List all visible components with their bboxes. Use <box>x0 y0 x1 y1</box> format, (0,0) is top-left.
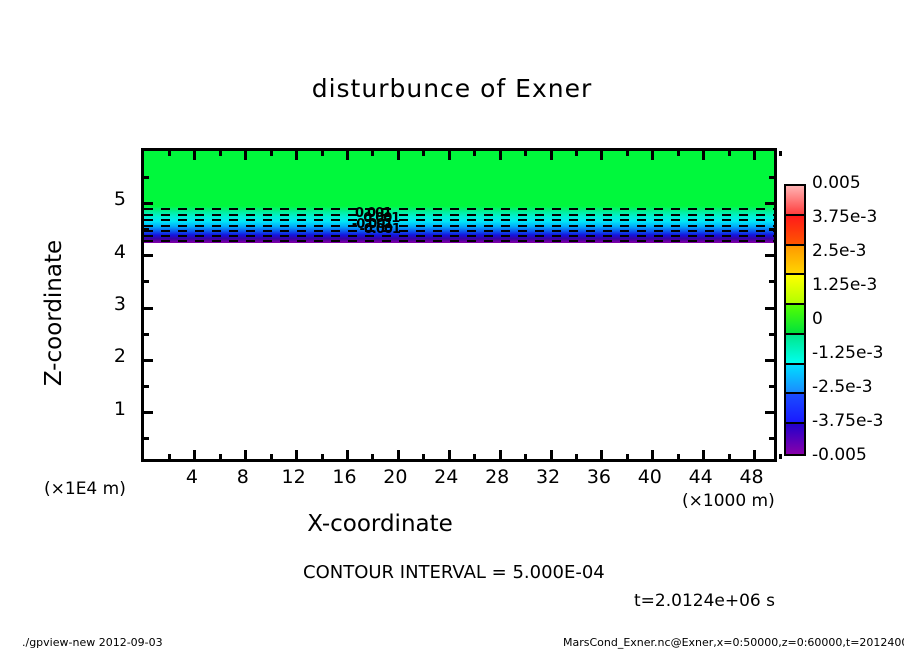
colorbar-tick-label: 2.5e-3 <box>812 241 866 261</box>
colorbar-segment <box>786 365 804 395</box>
axis-tick-minor <box>769 333 774 336</box>
axis-tick <box>144 254 153 257</box>
axis-tick <box>244 450 247 459</box>
colorbar-segment <box>786 186 804 216</box>
contour-interval-note: CONTOUR INTERVAL = 5.000E-04 <box>303 562 605 583</box>
axis-tick-minor <box>769 228 774 231</box>
colorbar-tick-label: -0.005 <box>812 445 867 465</box>
axis-tick <box>397 151 400 160</box>
axis-tick-minor <box>779 454 782 459</box>
axis-tick <box>448 151 451 160</box>
axis-tick-minor <box>575 151 578 156</box>
axis-tick-minor <box>270 454 273 459</box>
contour-lines-overlay: 0.0010.001-0.001-0.001 <box>144 151 774 459</box>
axis-tick <box>753 151 756 160</box>
axis-tick-minor <box>371 454 374 459</box>
footer-left: ./gpview-new 2012-09-03 <box>22 636 163 649</box>
axis-tick-minor <box>219 454 222 459</box>
axis-tick-minor <box>626 151 629 156</box>
axis-tick-minor <box>677 454 680 459</box>
axis-tick <box>295 450 298 459</box>
axis-tick-minor <box>144 176 149 179</box>
axis-tick-minor <box>769 437 774 440</box>
axis-tick <box>499 151 502 160</box>
time-note: t=2.0124e+06 s <box>634 591 775 611</box>
axis-tick <box>753 450 756 459</box>
colorbar-tick-label: 3.75e-3 <box>812 207 877 227</box>
y-tick-label: 1 <box>98 398 126 420</box>
contour-line <box>144 240 774 242</box>
axis-tick-minor <box>144 333 149 336</box>
colorbar-segment <box>786 216 804 246</box>
axis-tick-minor <box>779 151 782 156</box>
axis-tick <box>765 254 774 257</box>
axis-tick-minor <box>575 454 578 459</box>
colorbar-tick-label: -2.5e-3 <box>812 377 873 397</box>
y-axis-title: Z-coordinate <box>41 213 67 413</box>
y-axis-unit-label: (×1E4 m) <box>44 479 126 499</box>
axis-tick-minor <box>473 151 476 156</box>
y-tick-label: 5 <box>98 188 126 210</box>
y-tick-label: 2 <box>98 345 126 367</box>
axis-tick <box>550 450 553 459</box>
axis-tick <box>600 151 603 160</box>
contour-line <box>144 225 774 227</box>
axis-tick-minor <box>371 151 374 156</box>
axis-tick <box>702 151 705 160</box>
colorbar-segment <box>786 275 804 305</box>
axis-tick-minor <box>769 280 774 283</box>
axis-tick-minor <box>677 151 680 156</box>
axis-tick-minor <box>769 176 774 179</box>
page-title: disturbunce of Exner <box>0 74 904 103</box>
y-tick-label: 4 <box>98 241 126 263</box>
axis-tick <box>144 307 153 310</box>
x-tick-label: 48 <box>722 466 782 488</box>
axis-tick <box>244 151 247 160</box>
colorbar-tick-label: -3.75e-3 <box>812 411 883 431</box>
colorbar-segment <box>786 424 804 454</box>
colorbar <box>784 184 806 456</box>
axis-tick-minor <box>473 454 476 459</box>
footer-right: MarsCond_Exner.nc@Exner,x=0:50000,z=0:60… <box>563 636 904 649</box>
colorbar-tick-label: -1.25e-3 <box>812 343 883 363</box>
colorbar-segment <box>786 305 804 335</box>
axis-tick-minor <box>144 280 149 283</box>
x-axis-unit-label: (×1000 m) <box>682 491 775 511</box>
axis-tick-minor <box>270 151 273 156</box>
axis-tick-minor <box>769 385 774 388</box>
contour-line <box>144 208 774 210</box>
axis-tick-minor <box>168 454 171 459</box>
x-axis-title: X-coordinate <box>0 511 760 537</box>
contour-line <box>144 235 774 237</box>
axis-tick-minor <box>144 385 149 388</box>
axis-tick <box>765 307 774 310</box>
axis-tick <box>193 151 196 160</box>
axis-tick <box>346 450 349 459</box>
axis-tick-minor <box>524 151 527 156</box>
axis-tick <box>144 359 153 362</box>
axis-tick-minor <box>728 151 731 156</box>
axis-tick-minor <box>422 151 425 156</box>
axis-tick-minor <box>422 454 425 459</box>
axis-tick-minor <box>321 151 324 156</box>
colorbar-segment <box>786 246 804 276</box>
plot-inner: 0.0010.001-0.001-0.001 <box>144 151 774 459</box>
axis-tick <box>765 411 774 414</box>
axis-tick <box>600 450 603 459</box>
contour-line <box>144 219 774 221</box>
axis-tick <box>144 411 153 414</box>
colorbar-segment <box>786 394 804 424</box>
axis-tick-minor <box>524 454 527 459</box>
axis-tick <box>346 151 349 160</box>
axis-tick <box>702 450 705 459</box>
axis-tick <box>397 450 400 459</box>
axis-tick <box>144 202 153 205</box>
axis-tick-minor <box>144 228 149 231</box>
contour-label: -0.001 <box>359 222 400 237</box>
colorbar-tick-label: 1.25e-3 <box>812 275 877 295</box>
contour-line <box>144 230 774 232</box>
y-tick-label: 3 <box>98 293 126 315</box>
plot-area: 0.0010.001-0.001-0.001 <box>141 148 777 462</box>
axis-tick <box>448 450 451 459</box>
axis-tick <box>765 202 774 205</box>
axis-tick <box>651 151 654 160</box>
axis-tick <box>765 359 774 362</box>
axis-tick <box>193 450 196 459</box>
colorbar-segment <box>786 335 804 365</box>
axis-tick <box>499 450 502 459</box>
axis-tick-minor <box>321 454 324 459</box>
axis-tick <box>550 151 553 160</box>
axis-tick <box>295 151 298 160</box>
axis-tick-minor <box>728 454 731 459</box>
contour-line <box>144 214 774 216</box>
axis-tick-minor <box>144 437 149 440</box>
axis-tick <box>651 450 654 459</box>
axis-tick-minor <box>168 151 171 156</box>
colorbar-tick-label: 0 <box>812 309 823 329</box>
axis-tick-minor <box>626 454 629 459</box>
colorbar-tick-label: 0.005 <box>812 173 861 193</box>
axis-tick-minor <box>219 151 222 156</box>
